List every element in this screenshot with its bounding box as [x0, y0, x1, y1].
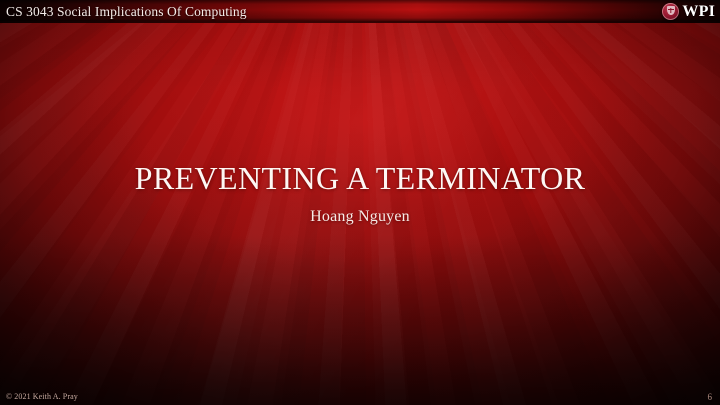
page-number: 6: [708, 392, 713, 402]
slide-subtitle-presenter: Hoang Nguyen: [0, 206, 720, 228]
wpi-logo-lockup: WPI: [662, 1, 715, 22]
presentation-slide: CS 3043 Social Implications Of Computing…: [0, 0, 720, 405]
slide-title: PREVENTING A TERMINATOR: [0, 158, 720, 198]
copyright-notice: © 2021 Keith A. Pray: [6, 392, 78, 402]
title-block: PREVENTING A TERMINATOR Hoang Nguyen: [0, 158, 720, 228]
wpi-seal-icon: [662, 3, 679, 20]
wpi-crest-shape: [667, 6, 675, 15]
slide-header-bar: CS 3043 Social Implications Of Computing…: [0, 0, 720, 23]
course-title: CS 3043 Social Implications Of Computing: [6, 1, 247, 22]
wpi-wordmark: WPI: [682, 3, 715, 20]
